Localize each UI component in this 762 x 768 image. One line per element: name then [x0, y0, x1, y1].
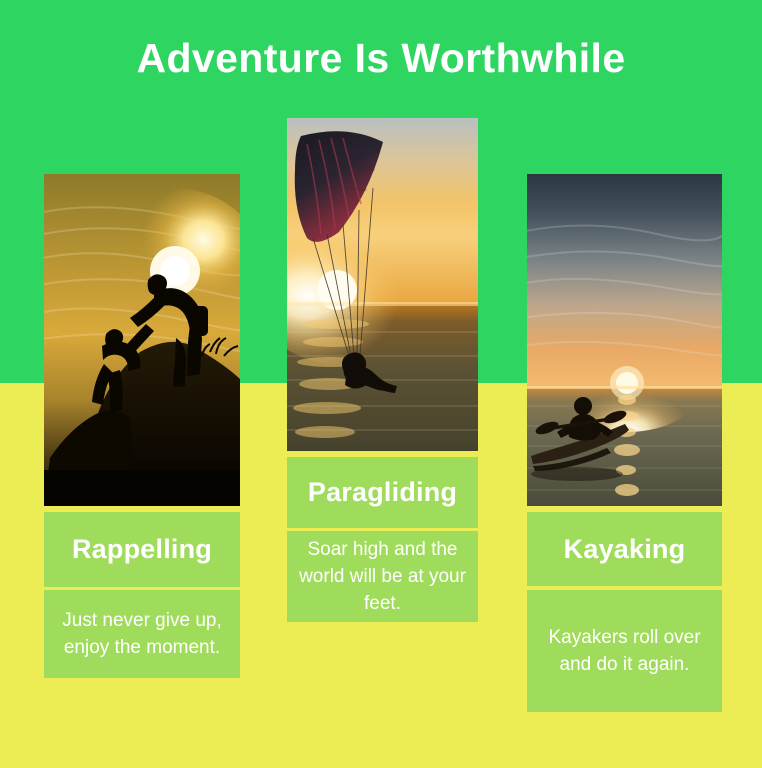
- photo-kayaker-calm-water-sunset: [527, 174, 722, 506]
- card-body-paragliding: Soar high and the world will be at your …: [287, 531, 478, 622]
- card-title-rappelling: Rappelling: [44, 512, 240, 587]
- photo-climbers-sunset-silhouette: [44, 174, 240, 506]
- card-body-kayaking: Kayakers roll over and do it again.: [527, 590, 722, 712]
- card-title-paragliding: Paragliding: [287, 457, 478, 528]
- photo-paraglider-ocean-sunset: [287, 118, 478, 451]
- card-body-rappelling: Just never give up, enjoy the moment.: [44, 590, 240, 678]
- card-title-kayaking: Kayaking: [527, 512, 722, 586]
- page-title: Adventure Is Worthwhile: [0, 32, 762, 84]
- poster-canvas: Adventure Is Worthwhile: [0, 0, 762, 768]
